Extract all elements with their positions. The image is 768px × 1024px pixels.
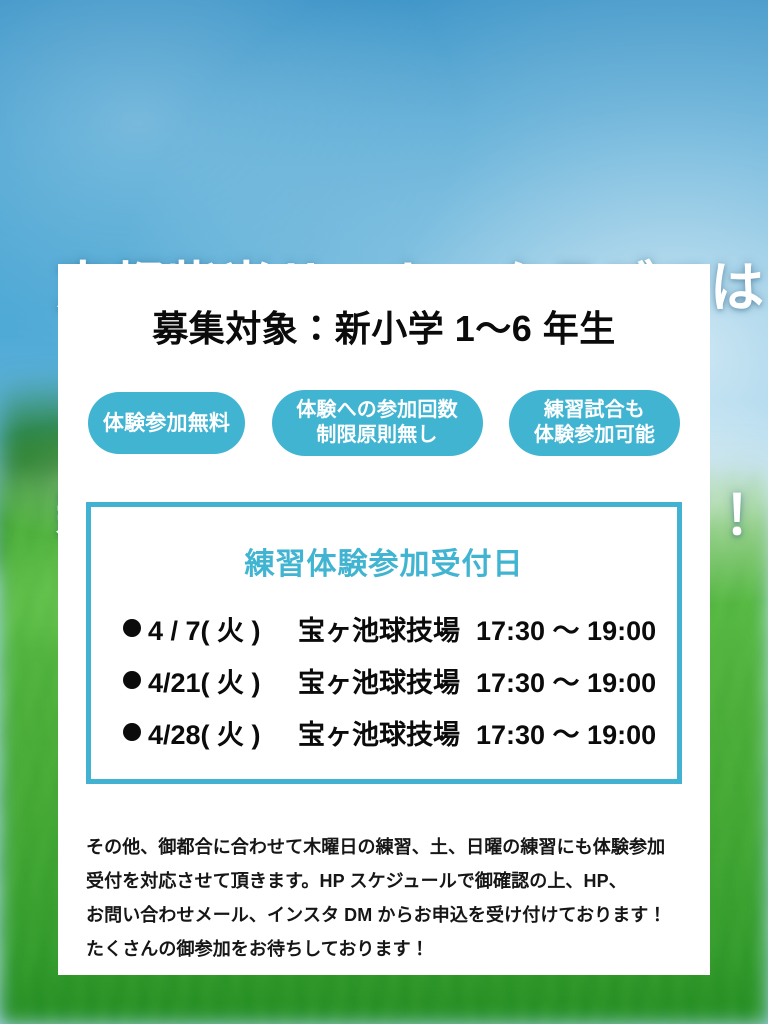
badge-unlimited-trials-line-2: 制限原則無し <box>316 423 437 448</box>
schedule-row: 4/21( 火 ) 宝ヶ池球技場 17:30 〜 19:00 <box>123 661 677 713</box>
schedule-row-time: 17:30 〜 19:00 <box>476 661 656 700</box>
schedule-row-date: 4 / 7( 火 ) <box>148 609 298 648</box>
info-card: 募集対象：新小学 1〜6 年生 体験参加無料 体験への参加回数 制限原則無し 練… <box>58 264 710 975</box>
footer-note-line-2: 受付を対応させて頂きます。HP スケジュールで御確認の上、HP、 <box>86 864 686 898</box>
badge-unlimited-trials-line-1: 体験への参加回数 <box>296 398 458 423</box>
recruitment-target-title: 募集対象：新小学 1〜6 年生 <box>58 300 710 352</box>
badge-practice-match: 練習試合も 体験参加可能 <box>509 390 680 456</box>
schedule-row-place: 宝ヶ池球技場 <box>298 609 476 648</box>
bullet-dot-icon <box>123 723 141 741</box>
bullet-dot-icon <box>123 619 141 637</box>
schedule-row: 4/28( 火 ) 宝ヶ池球技場 17:30 〜 19:00 <box>123 713 677 765</box>
schedule-row-time: 17:30 〜 19:00 <box>476 609 656 648</box>
bullet-dot-icon <box>123 671 141 689</box>
badge-practice-match-line-2: 体験参加可能 <box>534 423 655 448</box>
badge-practice-match-line-1: 練習試合も <box>544 398 645 423</box>
schedule-row-date: 4/21( 火 ) <box>148 661 298 700</box>
schedule-row-time: 17:30 〜 19:00 <box>476 713 656 752</box>
schedule-list: 4 / 7( 火 ) 宝ヶ池球技場 17:30 〜 19:00 4/21( 火 … <box>91 609 677 765</box>
schedule-row-date: 4/28( 火 ) <box>148 713 298 752</box>
footer-note-line-4: たくさんの御参加をお待ちしております！ <box>86 932 686 966</box>
schedule-row-place: 宝ヶ池球技場 <box>298 713 476 752</box>
badge-free-trial: 体験参加無料 <box>88 392 245 454</box>
badge-free-trial-line-1: 体験参加無料 <box>103 411 230 436</box>
badge-group: 体験参加無料 体験への参加回数 制限原則無し 練習試合も 体験参加可能 <box>88 390 680 456</box>
schedule-row: 4 / 7( 火 ) 宝ヶ池球技場 17:30 〜 19:00 <box>123 609 677 661</box>
badge-unlimited-trials: 体験への参加回数 制限原則無し <box>272 390 483 456</box>
schedule-box: 練習体験参加受付日 4 / 7( 火 ) 宝ヶ池球技場 17:30 〜 19:0… <box>86 502 682 784</box>
footer-note-line-3: お問い合わせメール、インスタ DM からお申込を受け付けております！ <box>86 898 686 932</box>
footer-note: その他、御都合に合わせて木曜日の練習、土、日曜の練習にも体験参加 受付を対応させ… <box>86 830 686 966</box>
schedule-title: 練習体験参加受付日 <box>91 539 677 583</box>
schedule-row-place: 宝ヶ池球技場 <box>298 661 476 700</box>
poster-root: 京都紫光サッカークラブでは 新規入団選手を募集中です！ 募集対象：新小学 1〜6… <box>0 0 768 1024</box>
footer-note-line-1: その他、御都合に合わせて木曜日の練習、土、日曜の練習にも体験参加 <box>86 830 686 864</box>
